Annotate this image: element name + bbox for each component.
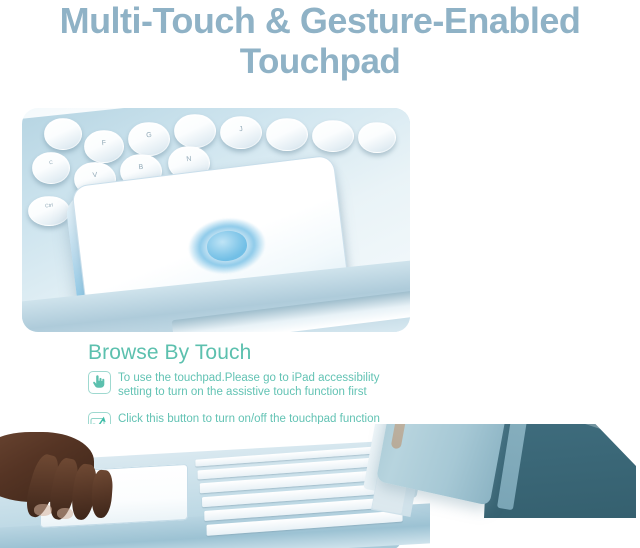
keyboard-touchpad-closeup-photo: F G J C V B N Ctrl <box>22 108 410 332</box>
feature-item-accessibility: To use the touchpad.Please go to iPad ac… <box>88 371 379 399</box>
page-title: Multi-Touch & Gesture-Enabled Touchpad <box>0 2 640 81</box>
fingernail <box>34 504 52 516</box>
keyboard-key <box>266 118 308 151</box>
hand-on-touchpad-photo <box>0 424 640 548</box>
feature-text: To use the touchpad.Please go to iPad ac… <box>118 371 379 399</box>
keyboard-key <box>174 114 216 148</box>
key-label: G <box>129 130 170 142</box>
keyboard-key: G <box>128 122 170 156</box>
key-label: V <box>75 170 116 182</box>
product-feature-graphic: Multi-Touch & Gesture-Enabled Touchpad F… <box>0 0 640 548</box>
fingernail <box>57 508 73 519</box>
title-line-2: Touchpad <box>0 43 640 81</box>
ipad-in-case <box>398 424 640 548</box>
keyboard-key <box>358 122 396 153</box>
title-line-1: Multi-Touch & Gesture-Enabled <box>0 2 640 41</box>
section-heading: Browse By Touch <box>88 341 251 365</box>
keyboard-key: J <box>220 116 262 149</box>
key-label: N <box>169 154 210 166</box>
touch-ring-indicator <box>185 213 269 278</box>
keyboard-key <box>312 120 354 152</box>
finger <box>90 469 113 518</box>
hand-touch-icon <box>88 371 111 394</box>
key-label: B <box>121 162 162 174</box>
key-label: C <box>33 157 69 167</box>
hand <box>0 432 132 528</box>
keyboard-key <box>44 118 82 150</box>
keyboard-key: Ctrl <box>28 196 70 226</box>
key-label: Ctrl <box>29 201 69 212</box>
key-label: F <box>85 137 124 149</box>
key-label: J <box>221 123 262 135</box>
keyboard-key: F <box>84 130 124 163</box>
keyboard-key: C <box>32 152 70 184</box>
